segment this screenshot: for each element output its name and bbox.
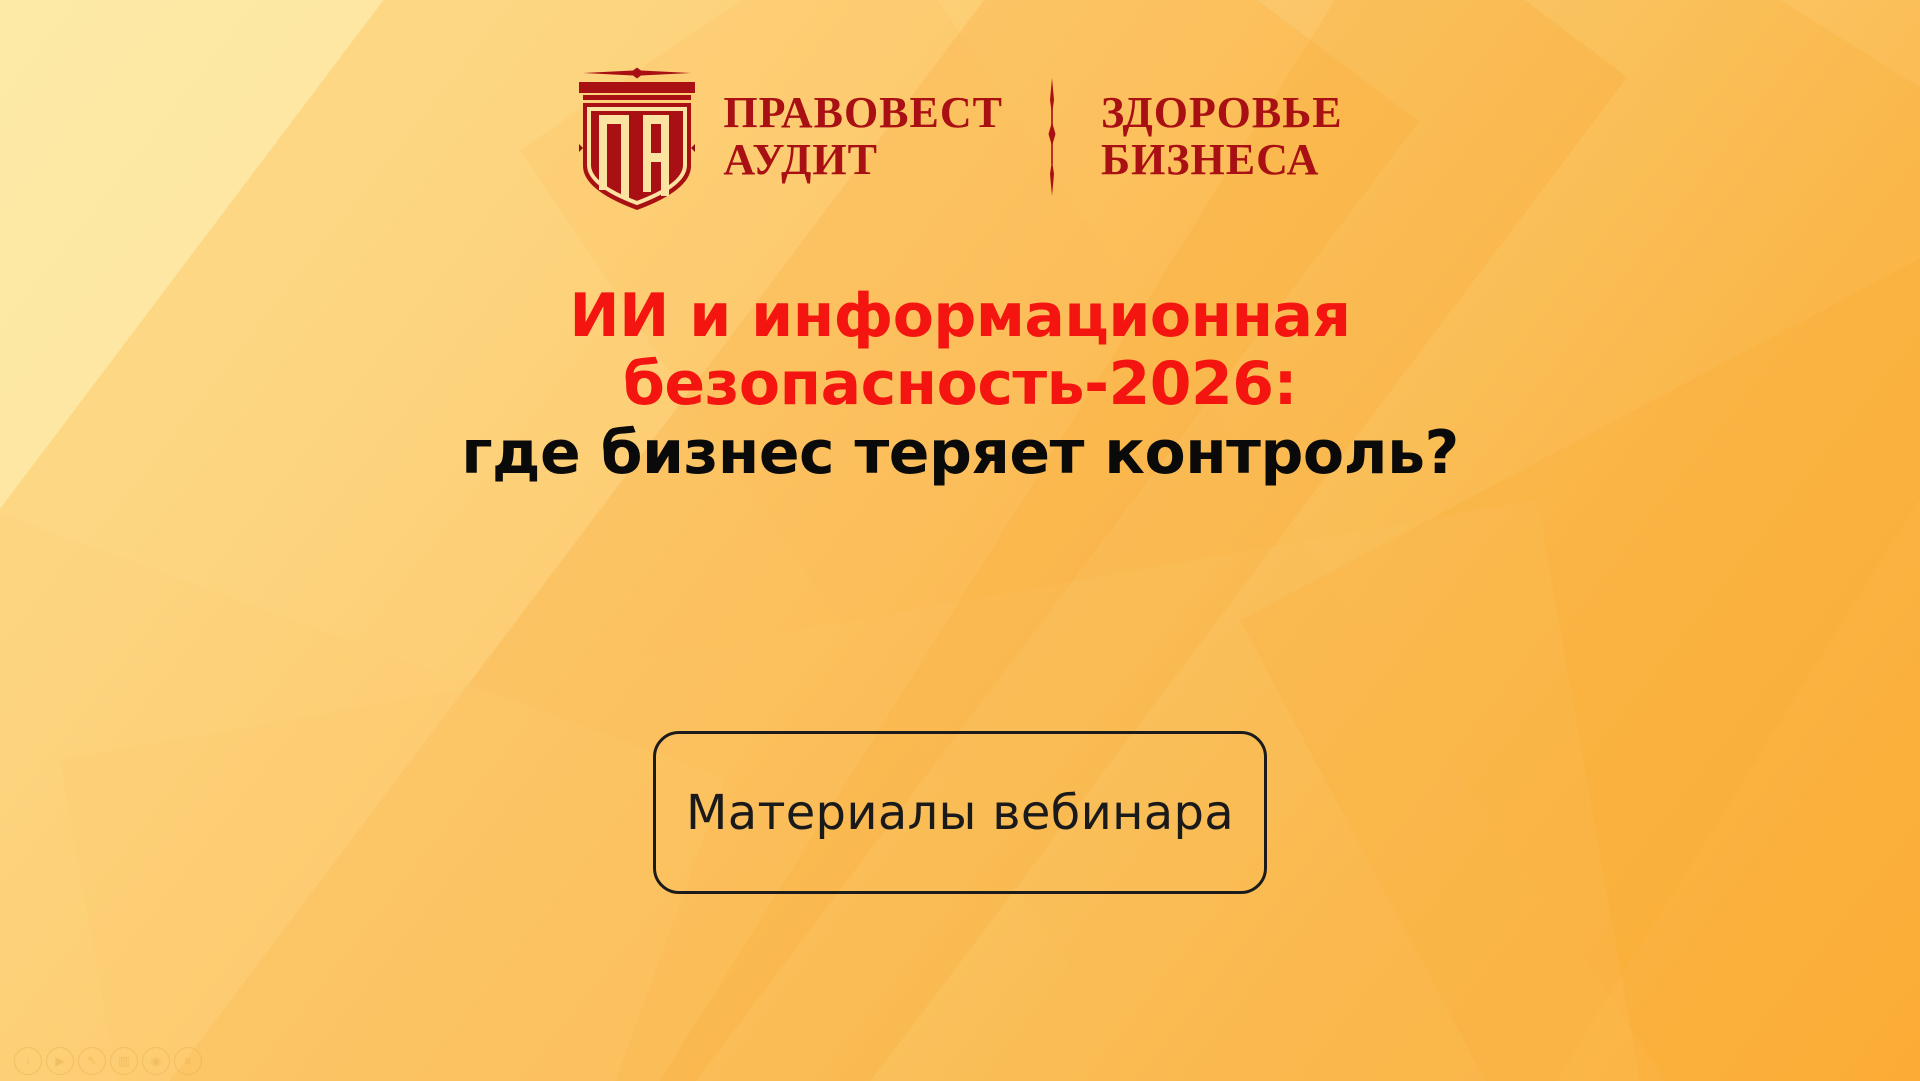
headline-line-2: безопасность-2026: (0, 350, 1920, 418)
presentation-slide: ПРАВОВЕСТ АУДИТ ЗДОРОВЬЕ БИЗНЕСА ИИ и ин… (0, 0, 1920, 1081)
brand-tagline-line1: ЗДОРОВЬЕ (1101, 90, 1343, 137)
building-icon[interactable]: ▥ (110, 1047, 138, 1075)
brand-tagline-line2: БИЗНЕСА (1101, 137, 1343, 184)
brand-logo: ПРАВОВЕСТ АУДИТ ЗДОРОВЬЕ БИЗНЕСА (0, 62, 1920, 212)
headline-line-3: где бизнес теряет контроль? (0, 419, 1920, 487)
webinar-materials-button[interactable]: Материалы вебинара (653, 731, 1267, 894)
cta-container: Материалы вебинара (0, 731, 1920, 894)
play-icon[interactable]: ▶ (46, 1047, 74, 1075)
pa-shield-emblem-icon (577, 62, 697, 212)
brand-wordmark-line2: АУДИТ (723, 137, 1003, 184)
webinar-materials-button-label: Материалы вебинара (686, 785, 1234, 841)
menu-icon[interactable]: ≡ (174, 1047, 202, 1075)
brand-wordmark-line1: ПРАВОВЕСТ (723, 90, 1003, 137)
headline-line-1: ИИ и информационная (0, 282, 1920, 350)
back-icon[interactable]: ‹ (14, 1047, 42, 1075)
brand-tagline: ЗДОРОВЬЕ БИЗНЕСА (1101, 90, 1343, 183)
pencil-icon[interactable]: ✎ (78, 1047, 106, 1075)
brand-wordmark: ПРАВОВЕСТ АУДИТ (723, 90, 1003, 183)
player-toolbar[interactable]: ‹ ▶ ✎ ▥ ◉ ≡ (14, 1047, 202, 1075)
vertical-ornament-divider-icon (1043, 78, 1061, 196)
page-title: ИИ и информационная безопасность-2026: г… (0, 282, 1920, 487)
search-icon[interactable]: ◉ (142, 1047, 170, 1075)
